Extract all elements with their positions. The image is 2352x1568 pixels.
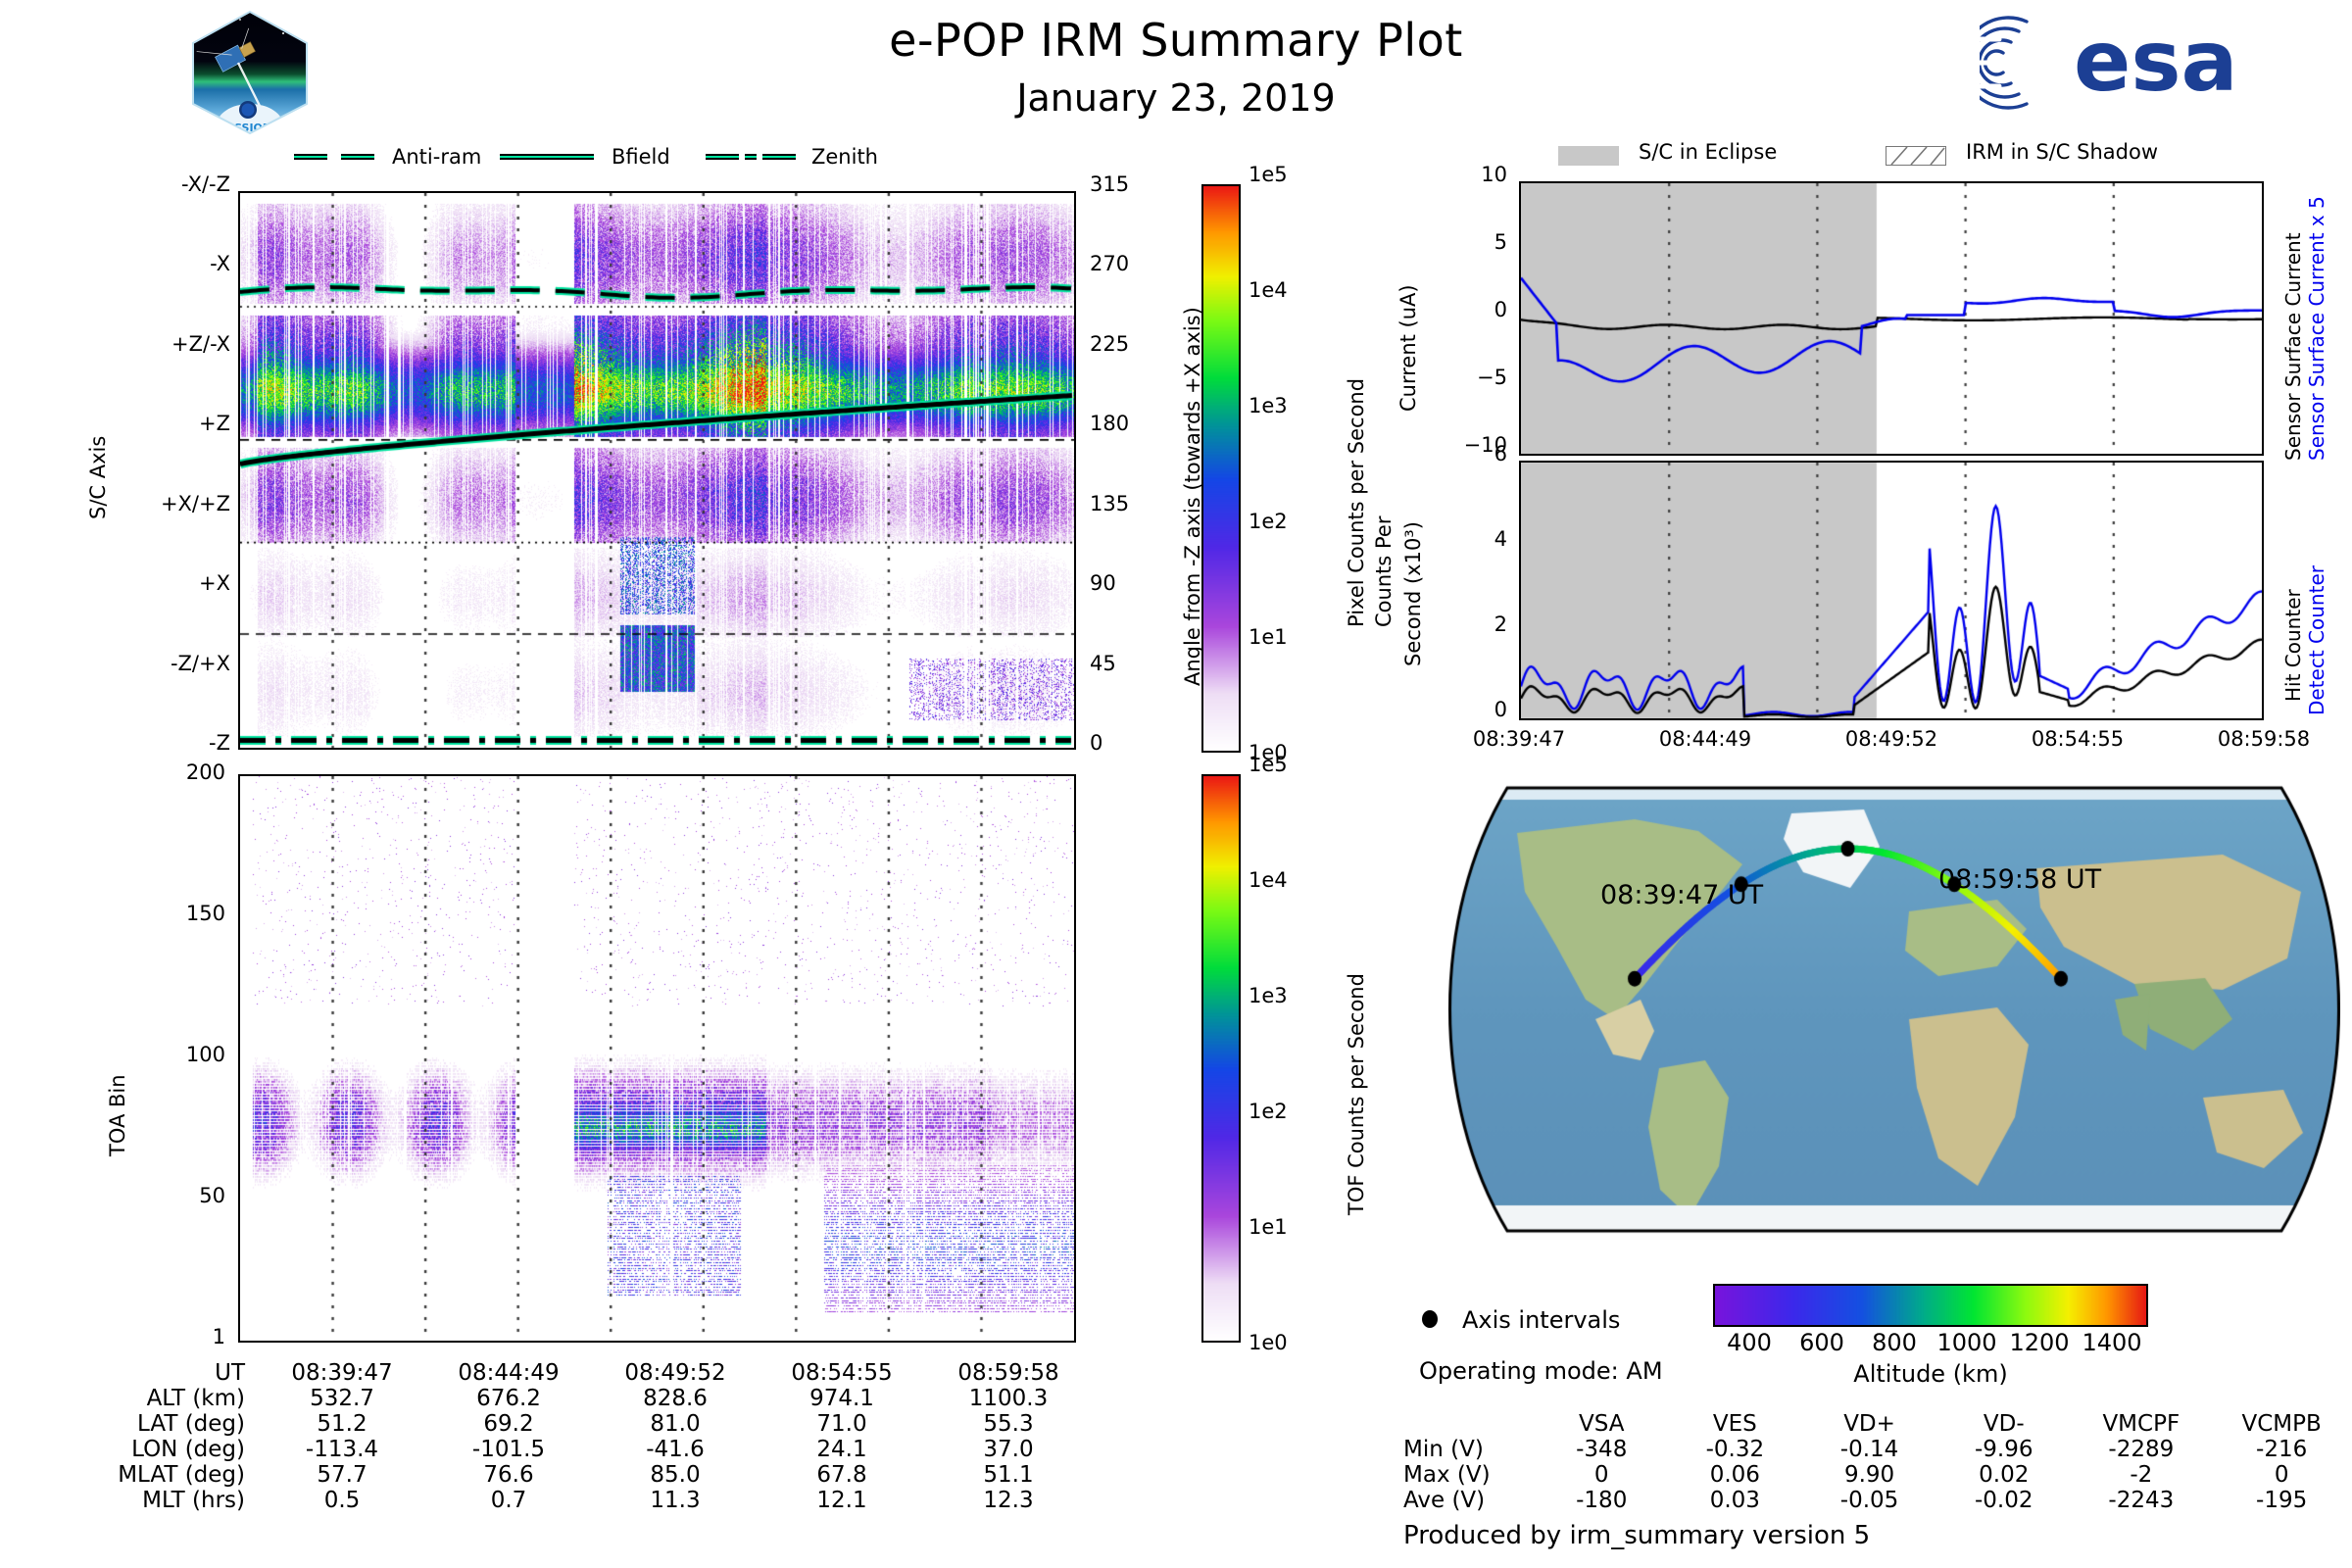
ephemeris-cell: 974.1 <box>759 1386 925 1411</box>
esa-logo: esa <box>1980 10 2274 116</box>
voltage-header-row: VSAVESVD+VD-VMCPFVCMPB <box>1403 1411 2352 1437</box>
tick-label: 100 <box>127 1043 225 1066</box>
legend-swatch-bfield <box>500 154 594 160</box>
tick-label: 2 <box>1439 612 1507 636</box>
altitude-colorbar-label: Altitude (km) <box>1713 1360 2148 1388</box>
tick-label: 1e4 <box>1249 868 1337 892</box>
ephemeris-cell: 08:49:52 <box>592 1360 759 1386</box>
tick-label: 1e5 <box>1249 753 1337 776</box>
voltage-summary-table: VSAVESVD+VD-VMCPFVCMPBMin (V)-348-0.32-0… <box>1403 1411 2352 1513</box>
voltage-cell: -348 <box>1536 1437 1668 1462</box>
ephemeris-row: UT08:39:4708:44:4908:49:5208:54:5508:59:… <box>59 1360 1092 1386</box>
ephemeris-cell: 81.0 <box>592 1411 759 1437</box>
voltage-column-header: VCMPB <box>2211 1411 2352 1437</box>
voltage-row-label: Ave (V) <box>1403 1488 1536 1513</box>
tick-label: 1 <box>127 1325 225 1348</box>
ephemeris-table: UT08:39:4708:44:4908:49:5208:54:5508:59:… <box>59 1360 1092 1513</box>
xtick-label: 08:59:58 <box>2195 727 2332 751</box>
ephemeris-cell: 51.2 <box>259 1411 425 1437</box>
ephemeris-cell: 08:59:58 <box>925 1360 1092 1386</box>
tof-counts-colorbar-label: TOF Counts per Second <box>1345 973 1368 1215</box>
altitude-colorbar <box>1713 1284 2148 1327</box>
voltage-cell: -0.32 <box>1668 1437 1802 1462</box>
tick-label: 45 <box>1090 652 1158 675</box>
voltage-row-label: Min (V) <box>1403 1437 1536 1462</box>
spectrogram-legend: Anti-ram Bfield Zenith <box>294 145 980 174</box>
voltage-cell: 0.06 <box>1668 1462 1802 1488</box>
tof-counts-colorbar-ticks: 1e51e41e31e21e11e0 <box>1249 766 1337 1354</box>
voltage-cell: -2243 <box>2071 1488 2211 1513</box>
sc-axis-ylabel: S/C Axis <box>86 436 110 519</box>
tick-label: −5 <box>1421 366 1507 389</box>
ephemeris-cell: 55.3 <box>925 1411 1092 1437</box>
eclipse-legend: S/C in Eclipse IRM in S/C Shadow <box>1558 142 2303 171</box>
tick-label: 135 <box>1090 492 1158 515</box>
ephemeris-cell: 0.5 <box>259 1488 425 1513</box>
toa-bin-spectrogram-panel[interactable] <box>238 774 1076 1343</box>
tof-counts-colorbar <box>1201 774 1241 1343</box>
ephemeris-cell: 1100.3 <box>925 1386 1092 1411</box>
tick-label: 0 <box>1421 298 1507 321</box>
voltage-cell: -0.14 <box>1802 1437 1936 1462</box>
current-right-label-blue: Sensor Surface Current x 5 <box>2305 196 2328 461</box>
voltage-cell: -216 <box>2211 1437 2352 1462</box>
ephemeris-row-label: MLT (hrs) <box>59 1488 259 1513</box>
ephemeris-cell: 57.7 <box>259 1462 425 1488</box>
tick-label: +X <box>118 571 230 595</box>
tick-label: 4 <box>1439 527 1507 551</box>
sc-axis-spectrogram-panel[interactable] <box>238 191 1076 750</box>
legend-label-anti-ram: Anti-ram <box>392 145 481 169</box>
voltage-row: Max (V)00.069.900.02-20 <box>1403 1462 2352 1488</box>
voltage-cell: -0.02 <box>1936 1488 2071 1513</box>
altitude-tick-label: 1400 <box>2068 1329 2156 1356</box>
tick-label: +Z <box>118 412 230 435</box>
ephemeris-cell: 0.7 <box>425 1488 592 1513</box>
counts-ylabel-line2: Second (x10³) <box>1401 521 1425 666</box>
counts-ylabel-line1: Counts Per <box>1372 516 1396 627</box>
counts-xtick-labels: 08:39:4708:44:4908:49:5208:54:5508:59:58 <box>1470 727 2313 760</box>
pixel-counts-colorbar-ticks: 1e51e41e31e21e11e0 <box>1249 176 1337 764</box>
tick-label: 1e1 <box>1249 625 1337 649</box>
voltage-column-header: VSA <box>1536 1411 1668 1437</box>
voltage-cell: -180 <box>1536 1488 1668 1513</box>
voltage-cell: 0.03 <box>1668 1488 1802 1513</box>
tick-label: 0 <box>1090 731 1158 755</box>
xtick-label: 08:54:55 <box>2009 727 2146 751</box>
ephemeris-row: MLT (hrs)0.50.711.312.112.3 <box>59 1488 1092 1513</box>
sc-axis-ytick-labels-left: -X/-Z-X+Z/-X+Z+X/+Z+X-Z/+X-Z <box>118 186 230 755</box>
tick-label: 90 <box>1090 571 1158 595</box>
xtick-label: 08:39:47 <box>1450 727 1588 751</box>
voltage-column-header: VES <box>1668 1411 1802 1437</box>
ephemeris-row-label: LON (deg) <box>59 1437 259 1462</box>
ephemeris-row: ALT (km)532.7676.2828.6974.11100.3 <box>59 1386 1092 1411</box>
legend-label-zenith: Zenith <box>811 145 878 169</box>
ephemeris-cell: 51.1 <box>925 1462 1092 1488</box>
voltage-cell: 9.90 <box>1802 1462 1936 1488</box>
tick-label: +X/+Z <box>118 492 230 515</box>
ephemeris-row: LAT (deg)51.269.281.071.055.3 <box>59 1411 1092 1437</box>
pixel-counts-colorbar <box>1201 184 1241 753</box>
tick-label: 315 <box>1090 172 1158 196</box>
legend-swatch-anti-ram-2 <box>341 154 374 160</box>
tick-label: 180 <box>1090 412 1158 435</box>
ephemeris-cell: 12.3 <box>925 1488 1092 1513</box>
tick-label: 225 <box>1090 332 1158 356</box>
ephemeris-cell: -101.5 <box>425 1437 592 1462</box>
tick-label: 1e0 <box>1249 1331 1337 1354</box>
voltage-column-header: VD+ <box>1802 1411 1936 1437</box>
ephemeris-cell: 12.1 <box>759 1488 925 1513</box>
tick-label: 1e3 <box>1249 394 1337 417</box>
voltage-cell: -2 <box>2071 1462 2211 1488</box>
voltage-row-label: Max (V) <box>1403 1462 1536 1488</box>
tick-label: 5 <box>1421 230 1507 254</box>
altitude-colorbar-ticks: 400600800100012001400 <box>1686 1329 2195 1362</box>
voltage-cell: 0.02 <box>1936 1462 2071 1488</box>
current-ylabel: Current (uA) <box>1396 284 1420 412</box>
tick-label: 150 <box>127 902 225 925</box>
tick-label: -Z <box>118 731 230 755</box>
ephemeris-cell: -113.4 <box>259 1437 425 1462</box>
voltage-cell: 0 <box>1536 1462 1668 1488</box>
xtick-label: 08:44:49 <box>1637 727 1774 751</box>
voltage-row: Ave (V)-1800.03-0.05-0.02-2243-195 <box>1403 1488 2352 1513</box>
ephemeris-cell: 67.8 <box>759 1462 925 1488</box>
counts-right-label-black: Hit Counter <box>2281 589 2305 702</box>
tick-label: 1e1 <box>1249 1215 1337 1239</box>
pixel-counts-colorbar-label: Pixel Counts per Second <box>1345 378 1368 627</box>
ephemeris-row: LON (deg)-113.4-101.5-41.624.137.0 <box>59 1437 1092 1462</box>
tick-label: -Z/+X <box>118 652 230 675</box>
tick-label: 1e2 <box>1249 510 1337 533</box>
tick-label: 1e4 <box>1249 278 1337 302</box>
legend-swatch-eclipse <box>1558 146 1619 166</box>
counts-right-label-blue: Detect Counter <box>2305 565 2328 715</box>
counts-panel[interactable] <box>1519 461 2264 720</box>
ephemeris-cell: 532.7 <box>259 1386 425 1411</box>
voltage-cell: -0.05 <box>1802 1488 1936 1513</box>
ephemeris-cell: 37.0 <box>925 1437 1092 1462</box>
voltage-column-header: VD- <box>1936 1411 2071 1437</box>
voltage-corner-cell <box>1403 1411 1536 1437</box>
tick-label: 50 <box>127 1184 225 1207</box>
legend-swatch-anti-ram <box>294 154 327 160</box>
map-end-time-label: 08:59:58 UT <box>1938 864 2101 895</box>
tick-label: 270 <box>1090 252 1158 275</box>
tick-label: 1e2 <box>1249 1100 1337 1123</box>
toa-bin-ytick-labels: 200150100501 <box>127 774 225 1343</box>
ephemeris-row-label: ALT (km) <box>59 1386 259 1411</box>
ephemeris-cell: -41.6 <box>592 1437 759 1462</box>
esa-logo-text: esa <box>2074 13 2238 111</box>
legend-label-eclipse: S/C in Eclipse <box>1639 140 1777 164</box>
ephemeris-row: MLAT (deg)57.776.685.067.851.1 <box>59 1462 1092 1488</box>
current-ytick-labels: 1050−5−10 <box>1421 176 1507 461</box>
ephemeris-cell: 08:44:49 <box>425 1360 592 1386</box>
voltage-cell: -9.96 <box>1936 1437 2071 1462</box>
ephemeris-row-label: UT <box>59 1360 259 1386</box>
tick-label: 1e5 <box>1249 163 1337 186</box>
legend-label-bfield: Bfield <box>612 145 670 169</box>
tick-label: 0 <box>1439 698 1507 721</box>
tick-label: +Z/-X <box>118 332 230 356</box>
current-right-label-black: Sensor Surface Current <box>2281 232 2305 461</box>
footer-produced-by: Produced by irm_summary version 5 <box>1403 1521 1870 1550</box>
voltage-cell: 0 <box>2211 1462 2352 1488</box>
operating-mode-label: Operating mode: AM <box>1419 1357 1663 1385</box>
xtick-label: 08:49:52 <box>1823 727 1960 751</box>
ephemeris-row-label: LAT (deg) <box>59 1411 259 1437</box>
ephemeris-cell: 676.2 <box>425 1386 592 1411</box>
tick-label: -X/-Z <box>118 172 230 196</box>
axis-intervals-legend-label: Axis intervals <box>1462 1306 1620 1334</box>
tick-label: -X <box>118 252 230 275</box>
tick-label: 6 <box>1439 442 1507 465</box>
ephemeris-cell: 08:54:55 <box>759 1360 925 1386</box>
toa-bin-ylabel: TOA Bin <box>106 1074 129 1156</box>
voltage-row: Min (V)-348-0.32-0.14-9.96-2289-216 <box>1403 1437 2352 1462</box>
current-panel[interactable] <box>1519 181 2264 456</box>
counts-ytick-labels: 6420 <box>1439 456 1507 730</box>
voltage-column-header: VMCPF <box>2071 1411 2211 1437</box>
ephemeris-cell: 11.3 <box>592 1488 759 1513</box>
map-start-time-label: 08:39:47 UT <box>1600 880 1763 910</box>
tick-label: 200 <box>127 760 225 784</box>
ephemeris-cell: 828.6 <box>592 1386 759 1411</box>
voltage-cell: -195 <box>2211 1488 2352 1513</box>
ground-track-map[interactable]: 08:39:47 UT 08:59:58 UT <box>1448 774 2340 1245</box>
tick-label: 1e3 <box>1249 984 1337 1007</box>
ephemeris-cell: 76.6 <box>425 1462 592 1488</box>
ephemeris-cell: 71.0 <box>759 1411 925 1437</box>
voltage-cell: -2289 <box>2071 1437 2211 1462</box>
tick-label: 10 <box>1421 163 1507 186</box>
ephemeris-row-label: MLAT (deg) <box>59 1462 259 1488</box>
ephemeris-cell: 24.1 <box>759 1437 925 1462</box>
ephemeris-cell: 69.2 <box>425 1411 592 1437</box>
ephemeris-cell: 85.0 <box>592 1462 759 1488</box>
legend-swatch-shadow <box>1886 146 1946 166</box>
sc-axis-ytick-labels-right: 31527022518013590450 <box>1090 186 1158 755</box>
axis-interval-marker-icon <box>1419 1305 1458 1331</box>
legend-label-shadow: IRM in S/C Shadow <box>1966 140 2158 164</box>
ephemeris-cell: 08:39:47 <box>259 1360 425 1386</box>
